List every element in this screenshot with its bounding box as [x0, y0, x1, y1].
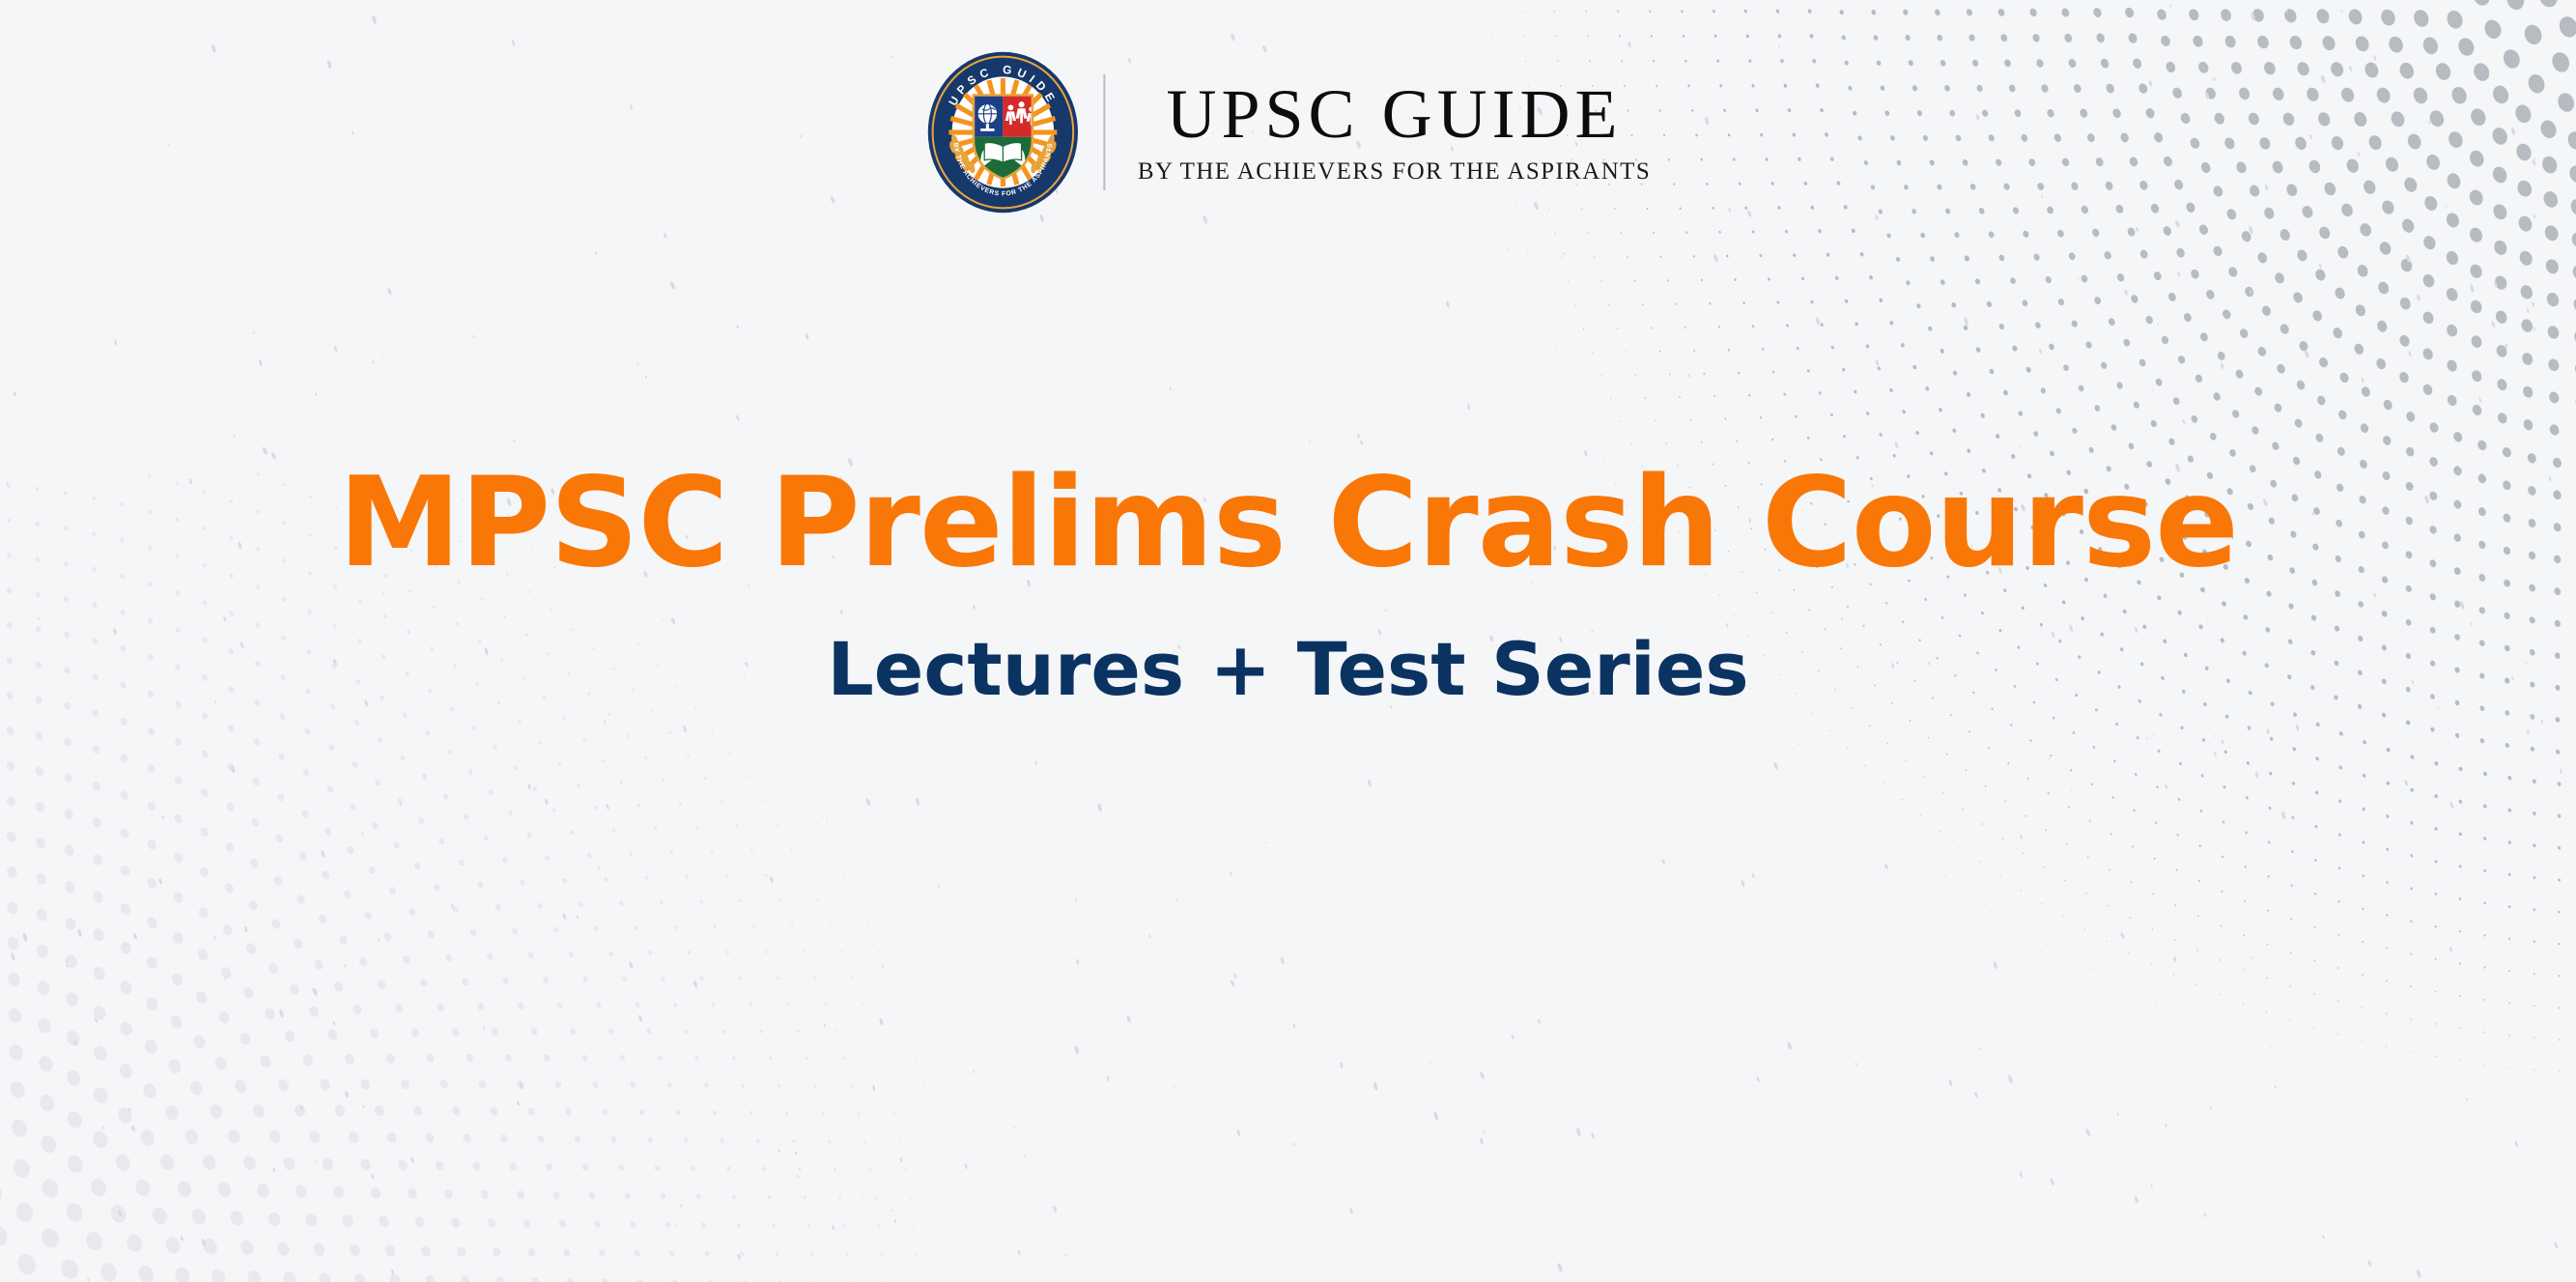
- headline-block: MPSC Prelims Crash Course Lectures + Tes…: [0, 454, 2576, 710]
- brand-name: UPSC GUIDE: [1166, 79, 1622, 150]
- brand-tagline: BY THE ACHIEVERS FOR THE ASPIRANTS: [1138, 158, 1651, 185]
- course-title: MPSC Prelims Crash Course: [0, 454, 2576, 592]
- logo-divider: [1103, 74, 1105, 190]
- course-subtitle: Lectures + Test Series: [0, 629, 2576, 710]
- brand-logo-lockup: UPSC GUIDE BY THE ACHIEVERS FOR THE ASPI…: [925, 50, 1651, 214]
- promo-banner: UPSC GUIDE BY THE ACHIEVERS FOR THE ASPI…: [0, 0, 2576, 1282]
- brand-wordmark: UPSC GUIDE BY THE ACHIEVERS FOR THE ASPI…: [1138, 79, 1651, 185]
- upsc-guide-seal-icon: UPSC GUIDE BY THE ACHIEVERS FOR THE ASPI…: [925, 50, 1080, 214]
